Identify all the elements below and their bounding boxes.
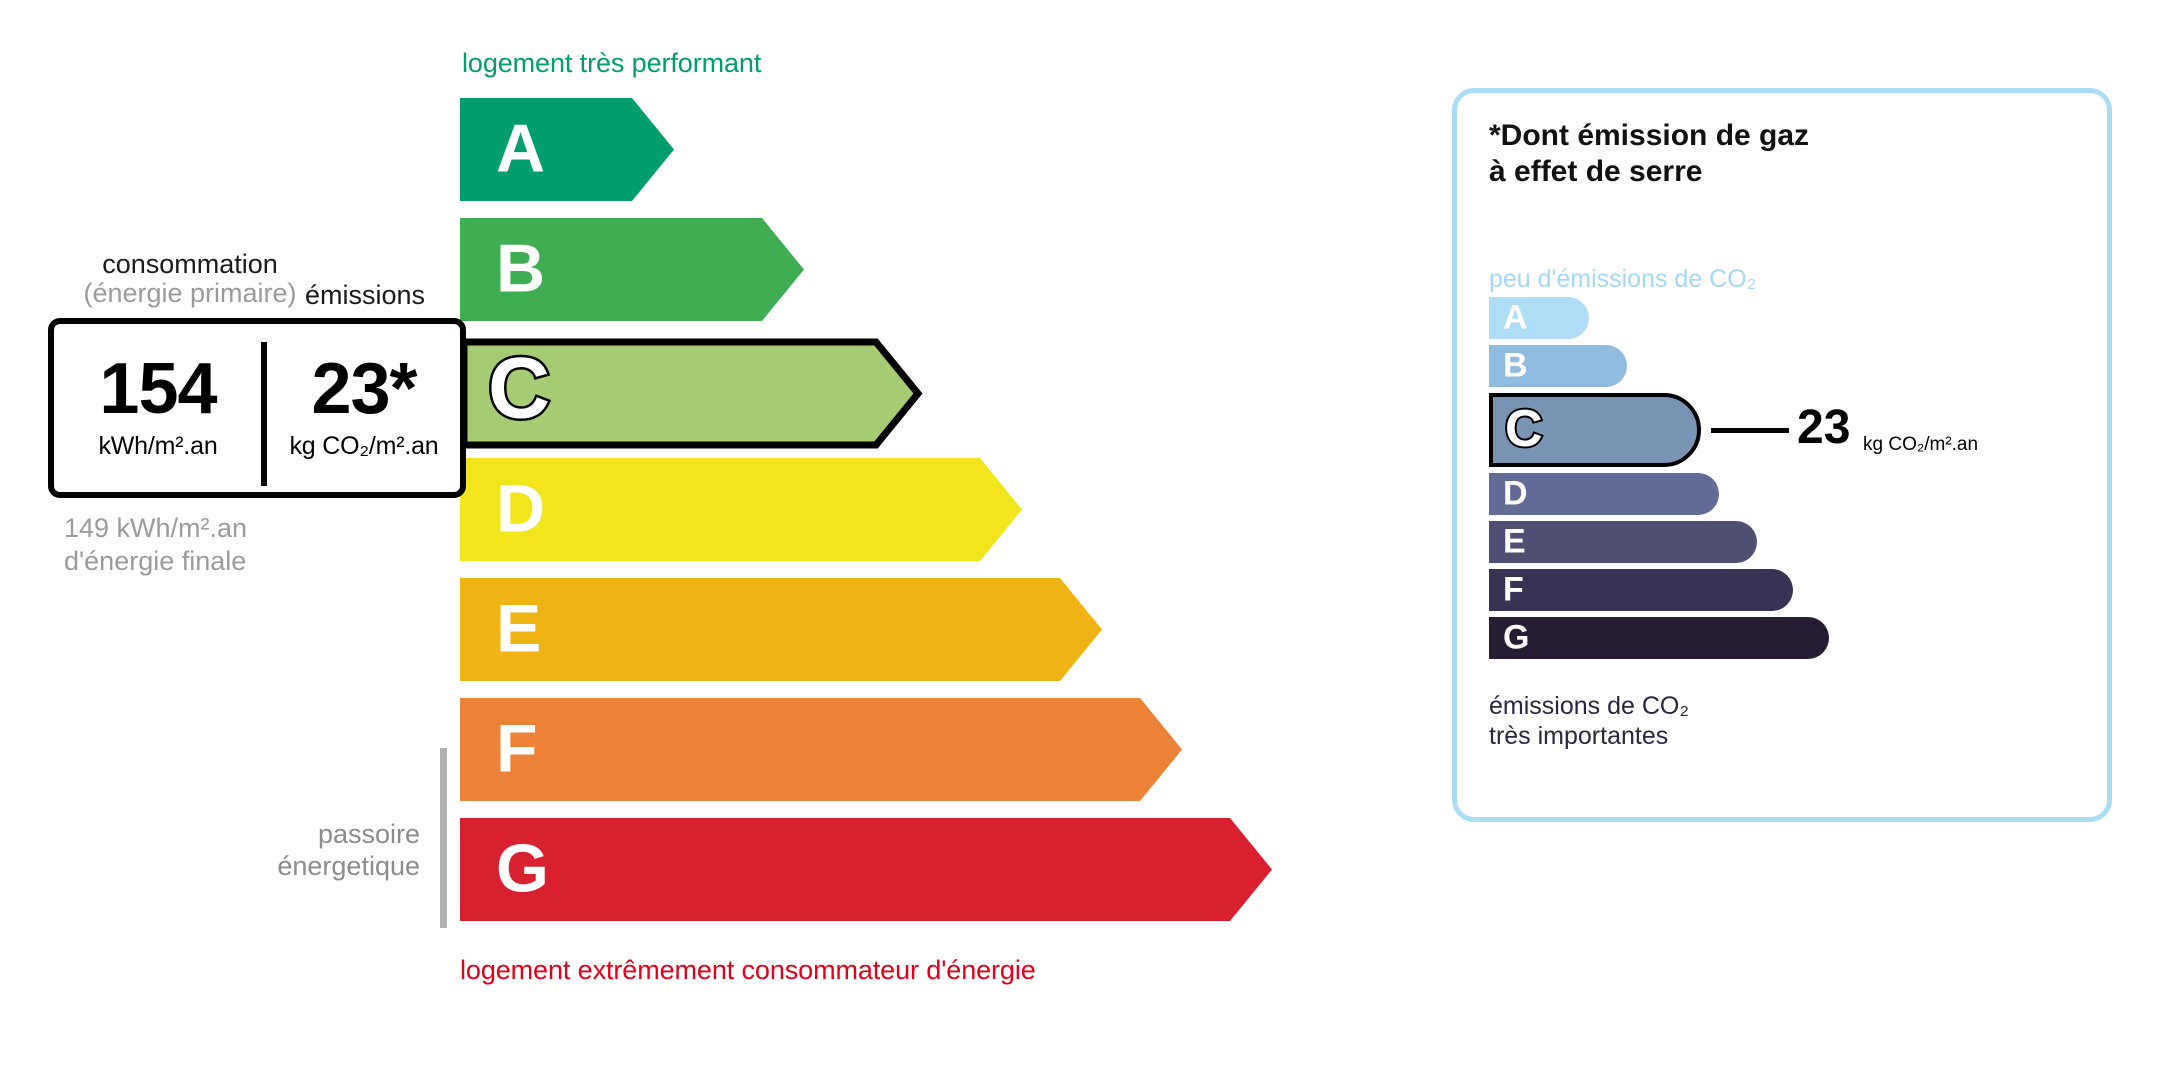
emissions-cell: 23* kg CO₂/m².an: [262, 324, 466, 492]
passoire-label: passoire énergetique: [190, 818, 420, 883]
ghg-bottom-caption: émissions de CO₂ très importantes: [1489, 691, 1689, 751]
energy-value-box: 154 kWh/m².an 23* kg CO₂/m².an: [48, 318, 466, 498]
ghg-bar-e: E: [1489, 521, 1757, 563]
energy-band-f: F: [460, 698, 1182, 801]
energy-band-letter-e: E: [496, 594, 541, 662]
ghg-bar-letter-c: C: [1505, 403, 1543, 455]
ghg-callout-line: [1711, 428, 1789, 433]
energy-band-letter-b: B: [496, 234, 545, 302]
ghg-emissions-panel: *Dont émission de gaz à effet de serre p…: [1452, 88, 2112, 822]
ghg-panel-title-line2: à effet de serre: [1489, 154, 1809, 190]
passoire-line1: passoire: [190, 818, 420, 850]
final-energy-line1: 149 kWh/m².an: [64, 512, 247, 545]
ghg-callout-value: 23: [1797, 404, 1850, 452]
ghg-bottom-caption-line2: très importantes: [1489, 721, 1689, 751]
emissions-value: 23*: [311, 355, 416, 423]
ghg-bar-letter-f: F: [1503, 572, 1524, 606]
emissions-unit: kg CO₂/m².an: [289, 432, 438, 461]
energy-band-letter-g: G: [496, 834, 549, 902]
ghg-bar-letter-b: B: [1503, 348, 1528, 382]
consumption-caption-line1: consommation: [102, 249, 278, 279]
passoire-line2: énergetique: [190, 850, 420, 882]
ghg-bar-d: D: [1489, 473, 1719, 515]
emissions-caption: émissions: [305, 280, 425, 311]
energy-class-bands: ABCDEFG: [460, 98, 1220, 938]
ghg-callout-unit: kg CO₂/m².an: [1863, 434, 1978, 456]
final-energy-line2: d'énergie finale: [64, 545, 247, 578]
bottom-caption-worst: logement extrêmement consommateur d'éner…: [460, 955, 1036, 986]
consumption-caption: consommation (énergie primaire): [60, 250, 320, 308]
primary-energy-value: 154: [99, 355, 216, 423]
primary-energy-cell: 154 kWh/m².an: [54, 324, 262, 492]
energy-band-letter-d: D: [496, 474, 545, 542]
energy-band-c: C: [460, 338, 914, 441]
ghg-bar-letter-d: D: [1503, 476, 1528, 510]
top-caption-very-efficient: logement très performant: [462, 48, 761, 79]
energy-band-b: B: [460, 218, 804, 321]
energy-performance-label: logement très performant ABCDEFG 154 kWh…: [0, 0, 1340, 1079]
energy-band-g: G: [460, 818, 1272, 921]
ghg-bar-a: A: [1489, 297, 1589, 339]
ghg-panel-title: *Dont émission de gaz à effet de serre: [1489, 118, 1809, 190]
ghg-bar-c: C: [1489, 393, 1701, 467]
primary-energy-unit: kWh/m².an: [98, 432, 217, 461]
ghg-bar-g: G: [1489, 617, 1829, 659]
energy-band-letter-c: C: [488, 345, 550, 431]
ghg-bottom-caption-line1: émissions de CO₂: [1489, 691, 1689, 721]
energy-band-letter-a: A: [496, 114, 545, 182]
final-energy-note: 149 kWh/m².an d'énergie finale: [64, 512, 247, 578]
ghg-class-bars: ABC23kg CO₂/m².anDEFG: [1489, 297, 2089, 687]
energy-band-letter-f: F: [496, 714, 538, 782]
ghg-top-caption: peu d'émissions de CO₂: [1489, 265, 1756, 294]
consumption-caption-line2: (énergie primaire): [60, 279, 320, 308]
energy-band-a: A: [460, 98, 674, 201]
ghg-bar-letter-a: A: [1503, 300, 1528, 334]
ghg-bar-letter-e: E: [1503, 524, 1526, 558]
energy-band-e: E: [460, 578, 1102, 681]
passoire-indicator-bar: [440, 748, 447, 928]
ghg-bar-f: F: [1489, 569, 1793, 611]
ghg-panel-title-line1: *Dont émission de gaz: [1489, 118, 1809, 154]
ghg-bar-b: B: [1489, 345, 1627, 387]
energy-band-d: D: [460, 458, 1022, 561]
ghg-bar-letter-g: G: [1503, 620, 1529, 654]
